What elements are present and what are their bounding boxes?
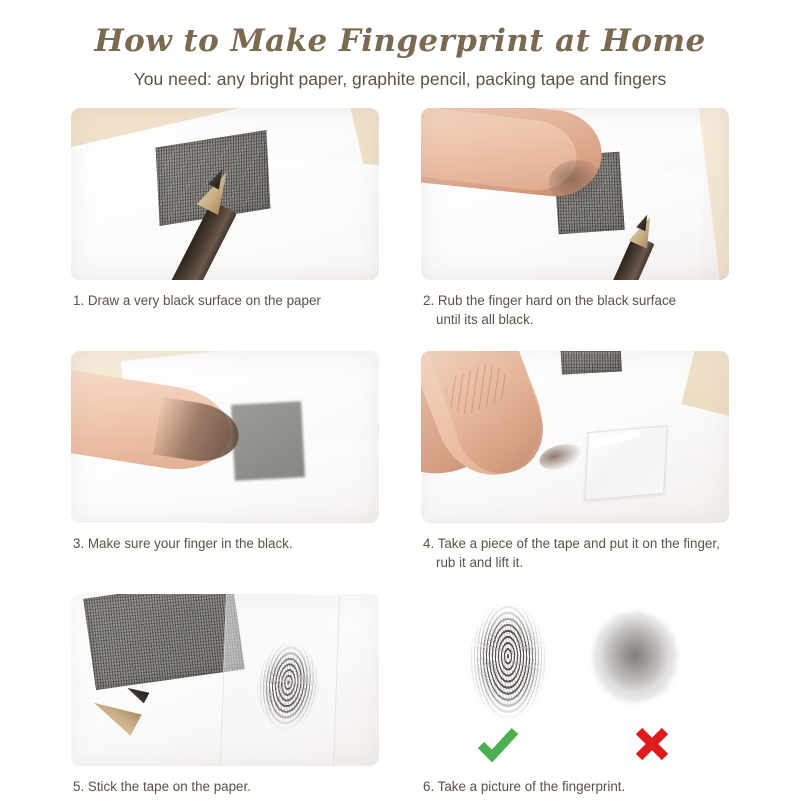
step-caption-3: 3. Make sure your finger in the black. xyxy=(84,534,379,553)
photo-step-2-rub-finger xyxy=(421,108,729,280)
step-caption-6: 6. Take a picture of the fingerprint. xyxy=(434,777,729,796)
verdict-good xyxy=(421,726,575,762)
photo-step-6-compare-results xyxy=(421,594,729,766)
fingerprint-good xyxy=(469,602,547,720)
step-caption-1: 1. Draw a very black surface on the pape… xyxy=(84,291,379,310)
check-icon xyxy=(476,726,520,762)
fingerprint-bad xyxy=(593,612,677,702)
verdict-row xyxy=(421,726,729,762)
page-header: How to Make Fingerprint at Home You need… xyxy=(0,0,800,89)
photo-vignette xyxy=(71,108,379,280)
step-card-3: 3. Make sure your finger in the black. xyxy=(71,351,379,572)
page-subtitle: You need: any bright paper, graphite pen… xyxy=(0,71,800,89)
photo-step-4-apply-tape xyxy=(421,351,729,523)
cross-icon xyxy=(633,726,671,762)
step-caption-4: 4. Take a piece of the tape and put it o… xyxy=(434,534,729,572)
verdict-bad xyxy=(575,726,729,762)
steps-grid: 1. Draw a very black surface on the pape… xyxy=(0,108,800,796)
step-card-4: 4. Take a piece of the tape and put it o… xyxy=(421,351,729,572)
page-title: How to Make Fingerprint at Home xyxy=(0,26,800,57)
step-caption-5: 5. Stick the tape on the paper. xyxy=(84,777,379,796)
photo-step-1-draw-black-surface xyxy=(71,108,379,280)
step-card-5: 5. Stick the tape on the paper. xyxy=(71,594,379,796)
photo-step-5-stick-tape xyxy=(71,594,379,766)
step-card-6: 6. Take a picture of the fingerprint. xyxy=(421,594,729,796)
steps-row-1: 1. Draw a very black surface on the pape… xyxy=(0,108,800,329)
step-card-1: 1. Draw a very black surface on the pape… xyxy=(71,108,379,329)
step-card-2: 2. Rub the finger hard on the black surf… xyxy=(421,108,729,329)
steps-row-2: 3. Make sure your finger in the black. xyxy=(0,351,800,572)
step-caption-2: 2. Rub the finger hard on the black surf… xyxy=(434,291,729,329)
photo-step-3-blackened-finger xyxy=(71,351,379,523)
steps-row-3: 5. Stick the tape on the paper. xyxy=(0,594,800,796)
